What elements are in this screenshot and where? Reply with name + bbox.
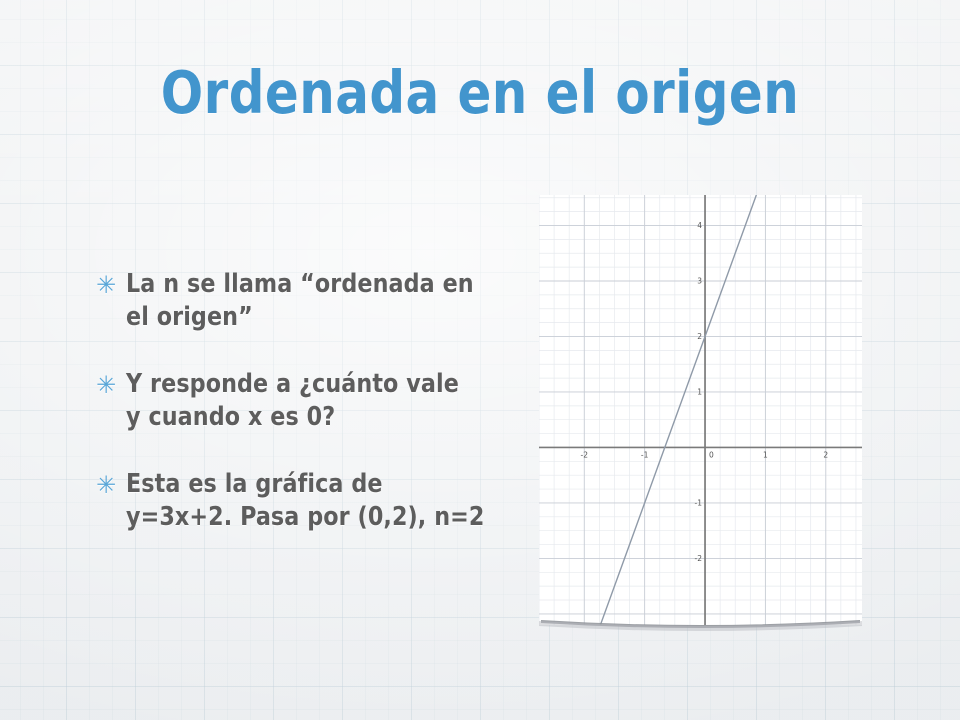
svg-text:3: 3 [697,277,702,286]
slide: Ordenada en el origen ✳ La n se llama “o… [0,0,960,720]
asterisk-bullet-icon: ✳ [96,368,126,399]
list-item: ✳ Esta es la gráfica de y=3x+2. Pasa por… [96,468,516,534]
svg-text:-2: -2 [581,450,589,459]
bullet-list: ✳ La n se llama “ordenada en el origen” … [96,268,516,568]
svg-text:2: 2 [697,332,702,341]
asterisk-bullet-icon: ✳ [96,468,126,499]
page-title: Ordenada en el origen [29,58,931,127]
list-item: ✳ La n se llama “ordenada en el origen” [96,268,516,334]
svg-text:-2: -2 [695,554,703,563]
bullet-text: Y responde a ¿cuánto vale y cuando x es … [126,368,504,434]
svg-text:-1: -1 [641,450,649,459]
svg-text:0: 0 [709,450,714,459]
svg-text:-1: -1 [695,499,703,508]
svg-text:1: 1 [763,450,768,459]
svg-text:1: 1 [697,388,702,397]
asterisk-bullet-icon: ✳ [96,268,126,299]
bullet-text: Esta es la gráfica de y=3x+2. Pasa por (… [126,468,504,534]
graph-image-card: -2-1012-2-11234 [539,195,862,625]
svg-text:2: 2 [823,450,828,459]
bullet-text: La n se llama “ordenada en el origen” [126,268,504,334]
coordinate-plane-chart: -2-1012-2-11234 [539,195,862,625]
list-item: ✳ Y responde a ¿cuánto vale y cuando x e… [96,368,516,434]
svg-text:4: 4 [697,221,702,230]
